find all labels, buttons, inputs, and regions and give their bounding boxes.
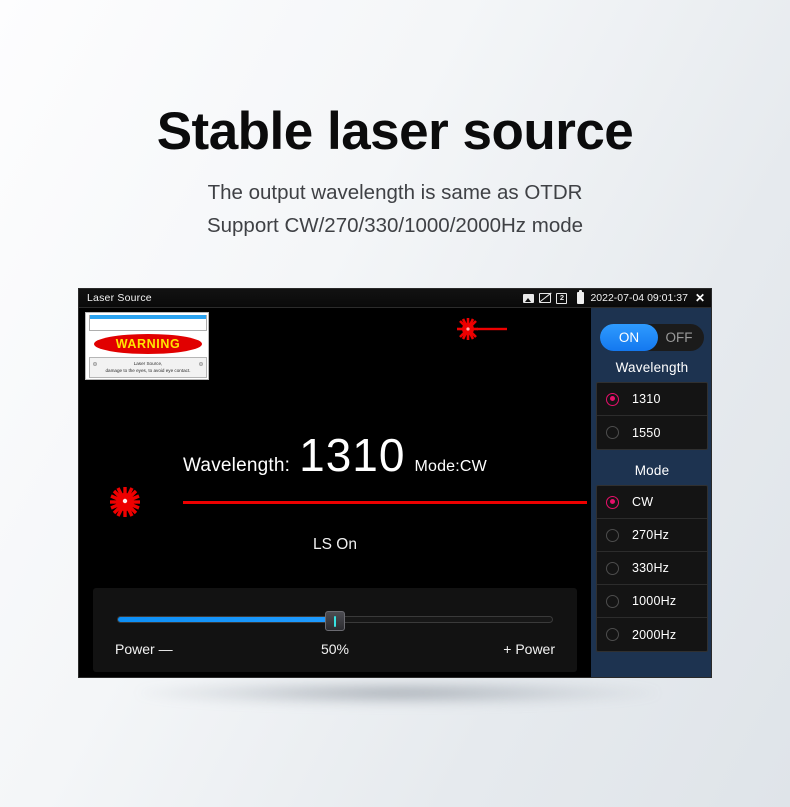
device-screen: Laser Source 2 2022-07-04 09:01:37 ✕ WAR…	[78, 288, 712, 678]
mode-option-label: 270Hz	[632, 528, 669, 542]
photo-icon[interactable]	[523, 294, 534, 303]
close-icon[interactable]: ✕	[695, 292, 705, 304]
battery-icon	[577, 292, 584, 304]
page-title: Stable laser source	[0, 104, 790, 160]
mode-option-list: CW 270Hz 330Hz 1000Hz 2000Hz	[596, 485, 708, 652]
mode-option-2000hz[interactable]: 2000Hz	[597, 618, 707, 651]
power-increase-button[interactable]: + Power	[503, 641, 555, 657]
radio-icon[interactable]	[606, 426, 619, 439]
warning-text-box: Laser Source, damage to the eyes, to avo…	[89, 357, 207, 378]
main-display-area: WARNING Laser Source, damage to the eyes…	[79, 308, 591, 678]
mode-readout-value: Mode:CW	[414, 458, 487, 476]
radio-icon[interactable]	[606, 595, 619, 608]
screw-icon-right	[199, 362, 203, 366]
hero-section: Stable laser source The output wavelengt…	[0, 0, 790, 243]
mode-option-1000hz[interactable]: 1000Hz	[597, 585, 707, 618]
laser-emitter-icon-top	[447, 314, 523, 344]
toggle-off-label[interactable]: OFF	[658, 330, 704, 345]
mode-option-label: 2000Hz	[632, 628, 676, 642]
status-icon-group: 2	[523, 292, 584, 304]
warning-label-header-strip	[89, 315, 207, 331]
window-title: Laser Source	[87, 292, 152, 304]
warning-text: Laser Source, damage to the eyes, to avo…	[97, 361, 198, 375]
power-slider[interactable]	[117, 616, 553, 623]
hero-subtitle-line-2: Support CW/270/330/1000/2000Hz mode	[0, 209, 790, 242]
channel-2-icon[interactable]: 2	[556, 293, 567, 304]
hero-subtitle-line-1: The output wavelength is same as OTDR	[0, 176, 790, 209]
wavelength-readout-value: 1310	[299, 428, 405, 482]
radio-icon-selected[interactable]	[606, 496, 619, 509]
title-bar: Laser Source 2 2022-07-04 09:01:37 ✕	[79, 289, 711, 308]
device-drop-shadow	[138, 680, 658, 706]
mode-option-label: 330Hz	[632, 561, 669, 575]
wavelength-option-1310[interactable]: 1310	[597, 383, 707, 416]
radio-icon[interactable]	[606, 562, 619, 575]
toggle-on-label[interactable]: ON	[600, 324, 658, 351]
clock-timestamp: 2022-07-04 09:01:37	[590, 292, 688, 304]
laser-beam-graphic	[79, 486, 591, 520]
laser-power-toggle[interactable]: ON OFF	[600, 324, 704, 351]
wavelength-readout: Wavelength: 1310 Mode:CW	[79, 428, 591, 482]
laser-burst-small-svg	[447, 314, 523, 344]
wavelength-option-1550[interactable]: 1550	[597, 416, 707, 449]
warning-text-line-1: Laser Source,	[105, 361, 190, 368]
wavelength-option-label: 1310	[632, 392, 661, 406]
device-screenshot: Laser Source 2 2022-07-04 09:01:37 ✕ WAR…	[78, 288, 712, 678]
mode-option-330hz[interactable]: 330Hz	[597, 552, 707, 585]
wavelength-option-list: 1310 1550	[596, 382, 708, 450]
warning-text-line-2: damage to the eyes, to avoid eye contact…	[105, 368, 190, 375]
power-slider-handle[interactable]	[325, 611, 345, 631]
laser-warning-label: WARNING Laser Source, damage to the eyes…	[85, 312, 209, 380]
mode-option-label: 1000Hz	[632, 594, 676, 608]
mode-section-header: Mode	[591, 463, 712, 478]
wavelength-option-label: 1550	[632, 426, 661, 440]
laser-status-text: LS On	[79, 536, 591, 554]
warning-banner: WARNING	[94, 334, 202, 354]
radio-icon[interactable]	[606, 628, 619, 641]
wavelength-section-header: Wavelength	[591, 360, 712, 375]
power-control-panel: Power — 50% + Power	[93, 588, 577, 672]
mode-option-cw[interactable]: CW	[597, 486, 707, 519]
monitor-off-icon[interactable]	[539, 293, 551, 303]
settings-side-panel: ON OFF Wavelength 1310 1550 Mode CW	[591, 308, 712, 678]
laser-beam-line	[183, 501, 587, 504]
radio-icon[interactable]	[606, 529, 619, 542]
mode-option-270hz[interactable]: 270Hz	[597, 519, 707, 552]
wavelength-readout-label: Wavelength:	[183, 455, 290, 477]
hero-subtitle: The output wavelength is same as OTDR Su…	[0, 160, 790, 242]
screw-icon-left	[93, 362, 97, 366]
power-slider-fill	[118, 617, 335, 622]
radio-icon-selected[interactable]	[606, 393, 619, 406]
power-labels-row: Power — 50% + Power	[93, 638, 577, 664]
mode-option-label: CW	[632, 495, 653, 509]
